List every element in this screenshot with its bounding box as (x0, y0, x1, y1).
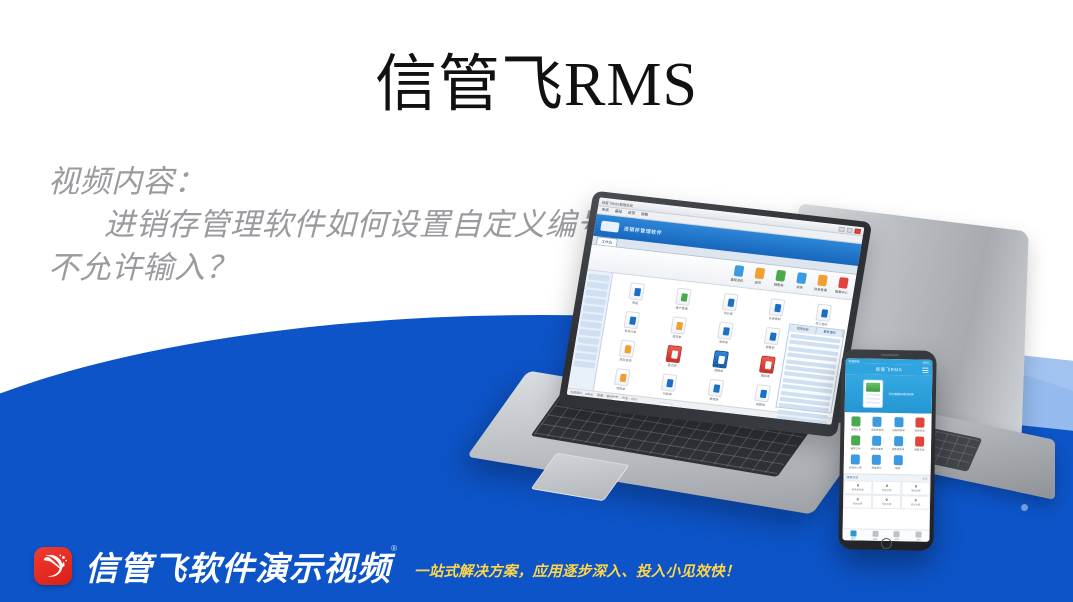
phone-speaker (880, 354, 898, 356)
toolbar-label: 报表中心 (834, 288, 849, 295)
tile-icon (915, 417, 924, 427)
tile-label: 销售出库单 (867, 447, 886, 451)
toolbar-button[interactable]: 基础资料 (730, 265, 747, 283)
toolbar-icon (817, 275, 828, 287)
tile-label: 销售订单 (846, 446, 865, 450)
mobile-tile[interactable]: 报表 (888, 455, 908, 470)
device-montage: 信管飞RMS管理系统 系统 基础 进货 销售 进销存管理软件 (455, 195, 1073, 525)
mobile-tile[interactable]: 销售订单 (846, 435, 866, 450)
function-icon-tile[interactable]: 付款单 (646, 372, 692, 399)
function-icon-tile[interactable]: 进货单 (655, 315, 701, 342)
tile-icon (768, 298, 785, 316)
mobile-app-banner: 手机端随时随地管理 (845, 374, 933, 414)
toolbar-icon (838, 277, 849, 289)
mobile-tile[interactable]: 销售退货单 (888, 436, 908, 451)
sidebar-item[interactable] (576, 345, 598, 353)
tile-icon (815, 304, 832, 322)
mobile-stats-grid: 0销售单数量 0销售金额 0采购金额 0收款金额 0付款金额 0库存金额 (843, 480, 930, 510)
function-icon-tile[interactable]: 调拨单 (697, 349, 743, 376)
close-button[interactable] (854, 228, 861, 234)
stat-cell: 0库存金额 (901, 495, 930, 510)
function-icon-tile[interactable]: 收款单 (599, 367, 645, 394)
tile-icon (872, 436, 881, 446)
mobile-function-grid: 采购订单 采购进货单 采购退货单 采购查询 销售订单 销售出库单 销售退货单 销… (844, 412, 932, 475)
tile-icon (722, 293, 739, 311)
tile-label: 采购退货单 (889, 428, 908, 432)
tile-icon (894, 436, 903, 446)
toolbar-button[interactable]: 库存 (792, 272, 809, 290)
maximize-button[interactable] (846, 227, 853, 233)
tile-icon (754, 384, 771, 402)
tile-icon (661, 373, 678, 391)
stat-label: 收款金额 (844, 501, 871, 505)
stat-label: 采购金额 (902, 488, 929, 492)
menu-item[interactable]: 系统 (601, 208, 609, 214)
stat-label: 付款金额 (873, 502, 900, 506)
phone-illustration-icon (863, 380, 883, 408)
mobile-tile[interactable]: 采购查询 (910, 417, 930, 432)
toolbar-button[interactable]: 财务管理 (813, 274, 830, 292)
mobile-tile[interactable]: 其他出入库 (846, 454, 866, 469)
tile-label: 采购订单 (846, 427, 865, 431)
tile-icon (764, 327, 781, 345)
sidebar-item[interactable] (583, 305, 605, 313)
toolbar-label: 进货 (750, 279, 765, 286)
function-icon-tile[interactable]: 费用单 (692, 377, 738, 404)
xinguanfei-bird-logo-icon (34, 547, 72, 585)
brand-title-text: 信管飞软件演示视频 (85, 550, 391, 587)
tile-icon (915, 436, 924, 446)
tile-label: 报表 (888, 466, 907, 470)
toolbar-icon (796, 272, 807, 284)
toolbar-icon (775, 270, 786, 282)
toolbar-label: 基础资料 (730, 277, 745, 284)
sidebar-item[interactable] (577, 337, 599, 345)
toolbar-button[interactable]: 进货 (750, 267, 767, 285)
hamburger-menu-icon[interactable] (922, 368, 928, 373)
sidebar-item[interactable] (573, 360, 595, 368)
registered-mark: ® (391, 544, 398, 553)
mobile-tile[interactable]: 现金银行 (867, 455, 887, 470)
tile-icon (712, 350, 729, 368)
toolbar-button[interactable]: 报表中心 (834, 277, 851, 295)
tile-icon (852, 416, 861, 426)
function-icon-tile[interactable]: 仓库资料 (753, 297, 799, 324)
desktop-app-screen: 信管飞RMS管理系统 系统 基础 进货 销售 进销存管理软件 (567, 197, 865, 424)
presentation-slide: 信管飞RMS 视频内容： 进销存管理软件如何设置自定义编号 不允许输入？ 信管飞… (0, 0, 1073, 602)
function-icon-tile[interactable]: 采购订单 (609, 309, 655, 336)
tile-icon (851, 435, 860, 445)
toolbar-label: 财务管理 (813, 286, 828, 293)
stat-cell: 0收款金额 (843, 494, 872, 509)
sidebar-item[interactable] (584, 297, 606, 305)
function-icon-tile[interactable]: 商品 (614, 281, 660, 308)
stat-label: 销售金额 (873, 488, 900, 492)
function-icon-tile[interactable]: 退货单 (702, 320, 748, 347)
mobile-app-screen: 中国移动 100% 信管飞RMS 手机端随时随地管理 采购订单 采购进货单 采购… (842, 358, 932, 541)
tile-icon (614, 368, 631, 386)
banner-text: 手机端随时随地管理 (888, 392, 913, 396)
toolbar-label: 库存 (792, 284, 807, 291)
menu-item[interactable]: 销售 (641, 212, 649, 218)
mobile-tile[interactable]: 销售出库单 (867, 436, 887, 451)
tile-label: 采购查询 (910, 428, 929, 432)
function-icon-tile[interactable]: 盘点单 (651, 343, 697, 370)
toolbar-icon (754, 267, 765, 279)
stat-cell: 0销售单数量 (843, 480, 872, 495)
mobile-app-header: 信管飞RMS (845, 363, 932, 376)
function-icon-tile[interactable]: 客户管理 (660, 286, 706, 313)
sidebar-item[interactable] (580, 321, 602, 329)
stats-filter[interactable]: 本月 (922, 477, 927, 481)
tile-icon (717, 322, 734, 340)
sidebar-item[interactable] (581, 313, 603, 321)
sidebar-item[interactable] (587, 281, 609, 289)
front-laptop: 信管飞RMS管理系统 系统 基础 进货 销售 进销存管理软件 (455, 205, 875, 505)
tile-icon (707, 379, 724, 397)
tile-icon (872, 455, 881, 465)
menu-item[interactable]: 基础 (614, 209, 622, 215)
stat-cell: 0销售金额 (872, 481, 901, 496)
tile-label: 销售查询 (910, 447, 929, 451)
tile-icon (629, 282, 646, 300)
tile-icon (675, 288, 692, 306)
app-brand-subtitle: 进销存管理软件 (623, 225, 662, 236)
tile-icon (666, 345, 683, 363)
sidebar-item[interactable] (585, 289, 607, 297)
brand-title: 信管飞软件演示视频 ® (85, 542, 391, 590)
tile-icon (851, 454, 860, 464)
menu-item[interactable]: 进货 (627, 211, 635, 217)
function-icon-tile[interactable]: 库存查询 (604, 338, 650, 365)
tile-icon (759, 355, 776, 373)
sidebar-item[interactable] (575, 352, 597, 360)
mobile-tile[interactable]: 采购退货单 (889, 417, 909, 432)
mobile-tile[interactable]: 采购进货单 (868, 417, 888, 432)
tile-icon (893, 455, 902, 465)
stat-cell: 0付款金额 (872, 495, 901, 510)
tile-icon (619, 340, 636, 358)
mobile-tile[interactable]: 采购订单 (846, 416, 866, 431)
mobile-app-title: 信管飞RMS (876, 366, 903, 372)
mobile-tile[interactable]: 销售查询 (910, 436, 930, 451)
stat-cell: 0采购金额 (901, 481, 930, 496)
stat-label: 库存金额 (902, 502, 929, 506)
stats-title: 经营状况 (846, 475, 858, 479)
tile-icon (670, 316, 687, 334)
app-logo-icon (600, 221, 620, 233)
tile-label: 其他出入库 (846, 465, 865, 469)
function-icon-tile[interactable]: 供应商 (707, 291, 753, 318)
tile-label: 现金银行 (867, 466, 886, 470)
tile-icon (624, 311, 641, 329)
tile-label: 销售退货单 (888, 447, 907, 451)
tile-icon (894, 417, 903, 427)
toolbar-button[interactable]: 销售单 (771, 269, 788, 287)
tile-label: 采购进货单 (868, 428, 887, 432)
smartphone: 中国移动 100% 信管飞RMS 手机端随时随地管理 采购订单 采购进货单 采购… (838, 349, 936, 551)
front-laptop-lid: 信管飞RMS管理系统 系统 基础 进货 销售 进销存管理软件 (558, 191, 873, 438)
sidebar-item[interactable] (579, 329, 601, 337)
stat-label: 销售单数量 (844, 487, 871, 491)
tile-icon (873, 417, 882, 427)
minimize-button[interactable] (838, 226, 845, 232)
toolbar-icon (733, 265, 744, 277)
battery-label: 100% (922, 360, 929, 364)
toolbar-label: 销售单 (771, 281, 786, 288)
page-title: 信管飞RMS (0, 46, 1073, 124)
status-user: 当前用户：admin (570, 390, 594, 397)
sidebar-item[interactable] (588, 274, 610, 282)
brand-footer: 信管飞软件演示视频 ® 一站式解决方案，应用逐步深入、投入小见效快！ (0, 530, 1073, 602)
brand-tagline: 一站式解决方案，应用逐步深入、投入小见效快！ (414, 560, 740, 581)
